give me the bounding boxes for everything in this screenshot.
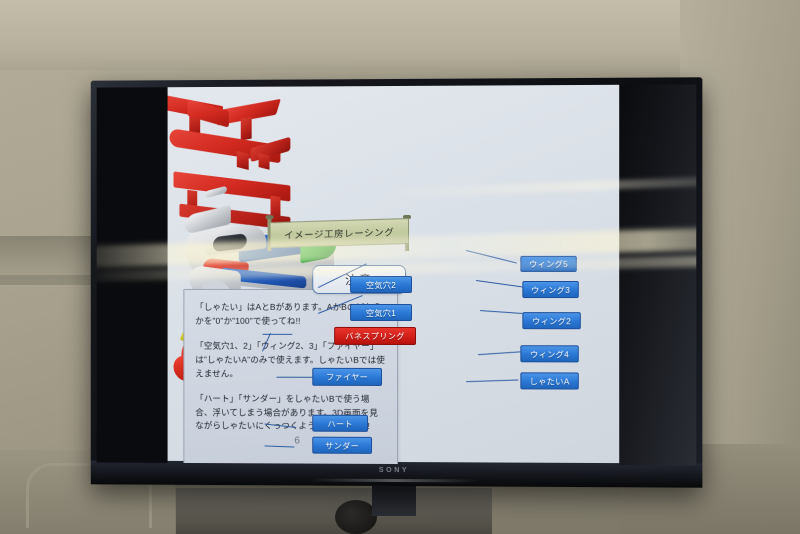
part-wing-arc-foot — [237, 151, 249, 170]
part-wing-strut-right — [241, 117, 252, 141]
label-text: ウィング2 — [532, 315, 571, 327]
label-bane-spring[interactable]: バネスプリング — [334, 327, 416, 345]
label-text: ハート — [327, 417, 352, 429]
label-wing-3[interactable]: ウィング3 — [522, 281, 578, 298]
television: 空気穴2 空気穴1 バネスプリング ファイヤー ハート サンダー — [91, 77, 703, 487]
label-kuukiana-2[interactable]: 空気穴2 — [350, 276, 412, 293]
page-number: 6 — [294, 436, 300, 447]
label-wing-4[interactable]: ウィング4 — [520, 345, 578, 362]
label-kuukiana-1[interactable]: 空気穴1 — [350, 304, 412, 321]
ir-sensor-strip — [309, 479, 479, 483]
part-wing-arc-foot2 — [259, 153, 270, 170]
label-text: サンダー — [325, 439, 359, 451]
label-text: ウィング5 — [529, 258, 568, 270]
label-wing-5[interactable]: ウィング5 — [520, 256, 576, 272]
tv-screen[interactable]: 空気穴2 空気穴1 バネスプリング ファイヤー ハート サンダー — [97, 84, 697, 465]
leader-line-bane2 — [263, 334, 293, 335]
tv-stand-neck — [372, 486, 416, 516]
label-text: しゃたいA — [530, 375, 570, 387]
label-shatai-a[interactable]: しゃたいA — [520, 372, 578, 389]
letterbox-left — [97, 87, 168, 463]
label-thunder[interactable]: サンダー — [312, 437, 372, 454]
label-fire[interactable]: ファイヤー — [312, 368, 382, 386]
label-text: ウィング4 — [530, 348, 569, 360]
banner-text: イメージ工房レーシング — [284, 224, 394, 241]
label-text: ウィング3 — [531, 284, 570, 296]
photo-scene: 空気穴2 空気穴1 バネスプリング ファイヤー ハート サンダー — [0, 0, 800, 534]
label-text: ファイヤー — [326, 371, 368, 383]
label-text: 空気穴2 — [366, 278, 396, 290]
tv-cabinet — [176, 488, 492, 534]
label-text: 空気穴1 — [366, 306, 396, 318]
label-text: バネスプリング — [345, 330, 404, 342]
presentation-slide: 空気穴2 空気穴1 バネスプリング ファイヤー ハート サンダー — [168, 85, 632, 465]
banner-cap-left — [266, 215, 274, 219]
banner-cloth: イメージ工房レーシング — [270, 218, 409, 248]
cabinet-knob — [335, 500, 377, 534]
label-wing-2[interactable]: ウィング2 — [522, 312, 580, 329]
slide-title-banner: イメージ工房レーシング — [262, 217, 409, 247]
label-heart[interactable]: ハート — [312, 415, 368, 432]
sony-logo: SONY — [379, 467, 409, 474]
